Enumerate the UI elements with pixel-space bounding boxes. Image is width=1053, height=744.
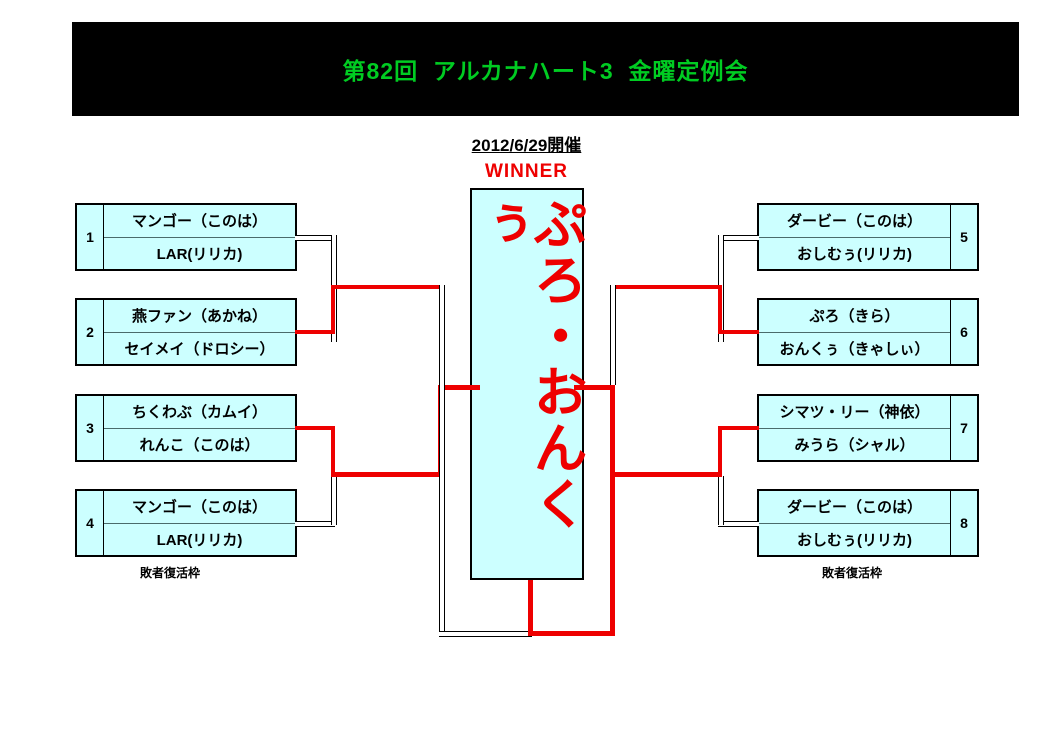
connector-m3-down [331, 426, 335, 476]
seed-number: 5 [950, 205, 977, 269]
tournament-bracket-page: 第82回 アルカナハート3 金曜定例会 2012/6/29開催 WINNER ぷ… [0, 0, 1053, 744]
match-box-3[interactable]: 3 ちくわぶ（カムイ） れんこ（このは） [75, 394, 297, 462]
seed-number: 1 [77, 205, 104, 269]
player-bottom: LAR(リリカ) [104, 238, 295, 270]
match-box-2[interactable]: 2 燕ファン（あかね） セイメイ（ドロシー） [75, 298, 297, 366]
player-top: シマツ・リー（神依） [759, 396, 950, 429]
player-top: 燕ファン（あかね） [104, 300, 295, 333]
player-list: ちくわぶ（カムイ） れんこ（このは） [104, 396, 295, 460]
player-list: マンゴー（このは） LAR(リリカ) [104, 491, 295, 555]
connector-right-semi-top [610, 285, 722, 289]
connector-m2-out [295, 330, 335, 334]
revival-label-left: 敗者復活枠 [140, 564, 200, 581]
connector-m3-out [295, 426, 335, 430]
player-bottom: れんこ（このは） [104, 429, 295, 461]
player-list: マンゴー（このは） LAR(リリカ) [104, 205, 295, 269]
player-top: ちくわぶ（カムイ） [104, 396, 295, 429]
connector-left-semi-bottom [331, 472, 443, 477]
connector-m7-down [718, 426, 722, 476]
connector-grand-final-bottom [528, 631, 615, 636]
player-bottom: おしむぅ(リリカ) [759, 524, 950, 556]
player-top: マンゴー（このは） [104, 205, 295, 238]
connector-left-semi-top-down [439, 285, 445, 385]
connector-right-winner-down [610, 385, 615, 636]
match-box-8[interactable]: 8 ダービー（このは） おしむぅ(リリカ) [757, 489, 979, 557]
seed-number: 2 [77, 300, 104, 364]
connector-m4-up [331, 476, 337, 525]
seed-number: 8 [950, 491, 977, 555]
connector-right-semi-bottom [610, 472, 722, 477]
winner-box: ぷろ・おんくぅ [470, 188, 584, 580]
banner-title: 第82回 アルカナハート3 金曜定例会 [72, 22, 1019, 116]
seed-number: 7 [950, 396, 977, 460]
connector-m5-out [718, 235, 759, 241]
connector-m6-up [718, 285, 722, 334]
connector-left-semi-top [331, 285, 443, 289]
revival-label-right: 敗者復活枠 [822, 564, 882, 581]
connector-left-loser-to-final [439, 631, 532, 637]
winner-label: WINNER [0, 161, 1053, 183]
connector-m8-up [718, 476, 724, 525]
seed-number: 3 [77, 396, 104, 460]
connector-m6-out [718, 330, 759, 334]
connector-left-loser-down [439, 385, 445, 633]
player-list: ぷろ（きら） おんくぅ（きゃしぃ） [759, 300, 950, 364]
connector-m2-up [331, 285, 335, 334]
connector-right-final [574, 385, 615, 390]
seed-number: 6 [950, 300, 977, 364]
connector-m4-out [295, 521, 335, 527]
match-box-5[interactable]: 5 ダービー（このは） おしむぅ(リリカ) [757, 203, 979, 271]
connector-right-semi-top-down [610, 285, 616, 385]
connector-grand-final-stem [528, 580, 533, 636]
connector-m1-out [295, 235, 335, 241]
player-bottom: みうら（シャル） [759, 429, 950, 461]
player-bottom: セイメイ（ドロシー） [104, 333, 295, 365]
player-bottom: おしむぅ(リリカ) [759, 238, 950, 270]
player-top: ダービー（このは） [759, 205, 950, 238]
match-box-1[interactable]: 1 マンゴー（このは） LAR(リリカ) [75, 203, 297, 271]
player-top: ダービー（このは） [759, 491, 950, 524]
player-list: シマツ・リー（神依） みうら（シャル） [759, 396, 950, 460]
player-top: マンゴー（このは） [104, 491, 295, 524]
player-list: 燕ファン（あかね） セイメイ（ドロシー） [104, 300, 295, 364]
match-box-6[interactable]: 6 ぷろ（きら） おんくぅ（きゃしぃ） [757, 298, 979, 366]
connector-m7-out [718, 426, 759, 430]
player-bottom: LAR(リリカ) [104, 524, 295, 556]
match-box-7[interactable]: 7 シマツ・リー（神依） みうら（シャル） [757, 394, 979, 462]
player-bottom: おんくぅ（きゃしぃ） [759, 333, 950, 365]
title-banner: 第82回 アルカナハート3 金曜定例会 [72, 22, 1019, 116]
winner-name: ぷろ・おんくぅ [471, 196, 583, 578]
event-date-text: 2012/6/29開催 [472, 136, 582, 155]
match-box-4[interactable]: 4 マンゴー（このは） LAR(リリカ) [75, 489, 297, 557]
player-list: ダービー（このは） おしむぅ(リリカ) [759, 491, 950, 555]
seed-number: 4 [77, 491, 104, 555]
player-top: ぷろ（きら） [759, 300, 950, 333]
event-date: 2012/6/29開催 [0, 131, 1053, 156]
connector-m8-out [718, 521, 759, 527]
player-list: ダービー（このは） おしむぅ(リリカ) [759, 205, 950, 269]
